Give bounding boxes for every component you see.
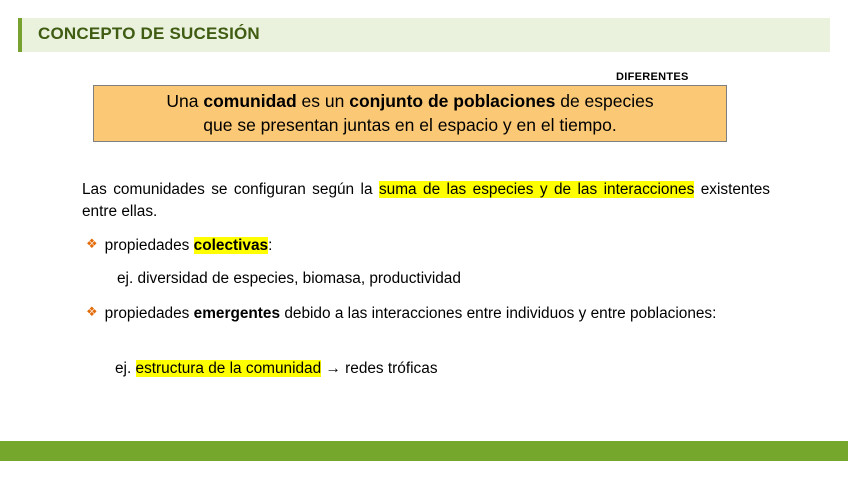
paragraph-highlight: suma de las especies y de las interaccio…: [379, 181, 694, 198]
label-diferentes: DIFERENTES: [616, 71, 689, 83]
bullet-2-text: propiedades emergentes debido a las inte…: [105, 303, 717, 324]
title-accent-bar: [18, 18, 22, 52]
page-title: CONCEPTO DE SUCESIÓN: [38, 24, 260, 44]
bullet-2-sub-pre: ej.: [115, 360, 136, 377]
bullet-item-1: ❖ propiedades colectivas:: [86, 235, 686, 256]
definition-callout: Una comunidad es un conjunto de poblacio…: [93, 85, 727, 142]
callout-text-3: de especies: [555, 91, 653, 111]
bullet-2-pre: propiedades: [105, 305, 194, 322]
bullet-2-subtext: ej. estructura de la comunidad → redes t…: [115, 360, 438, 378]
callout-bold-conjunto: conjunto de poblaciones: [349, 91, 555, 111]
bullet-item-2: ❖ propiedades emergentes debido a las in…: [86, 303, 776, 324]
diamond-bullet-icon: ❖: [86, 303, 98, 322]
diamond-bullet-icon: ❖: [86, 235, 98, 254]
footer-white-strip: [0, 461, 848, 477]
callout-line-1: Una comunidad es un conjunto de poblacio…: [166, 90, 653, 113]
bullet-1-highlight: colectivas: [194, 237, 268, 254]
slide-canvas: CONCEPTO DE SUCESIÓN DIFERENTES Una comu…: [0, 0, 848, 477]
bullet-1-pre: propiedades: [105, 237, 194, 254]
bullet-2-post: debido a las interacciones entre individ…: [280, 305, 716, 322]
paragraph-text-1: Las comunidades se configuran según la: [82, 181, 379, 198]
footer-band: [0, 441, 848, 461]
callout-bold-comunidad: comunidad: [203, 91, 296, 111]
bullet-1-subtext: ej. diversidad de especies, biomasa, pro…: [117, 270, 461, 288]
intro-paragraph: Las comunidades se configuran según la s…: [82, 179, 770, 223]
bullet-1-text: propiedades colectivas:: [105, 235, 273, 256]
bullet-1-post: :: [268, 237, 272, 254]
callout-line-2: que se presentan juntas en el espacio y …: [203, 114, 616, 137]
bullet-2-sub-highlight: estructura de la comunidad: [136, 360, 322, 377]
callout-text-1: Una: [166, 91, 203, 111]
bullet-2-bold: emergentes: [194, 305, 280, 322]
callout-text-2: es un: [297, 91, 350, 111]
bullet-2-sub-post: → redes tróficas: [321, 360, 437, 377]
